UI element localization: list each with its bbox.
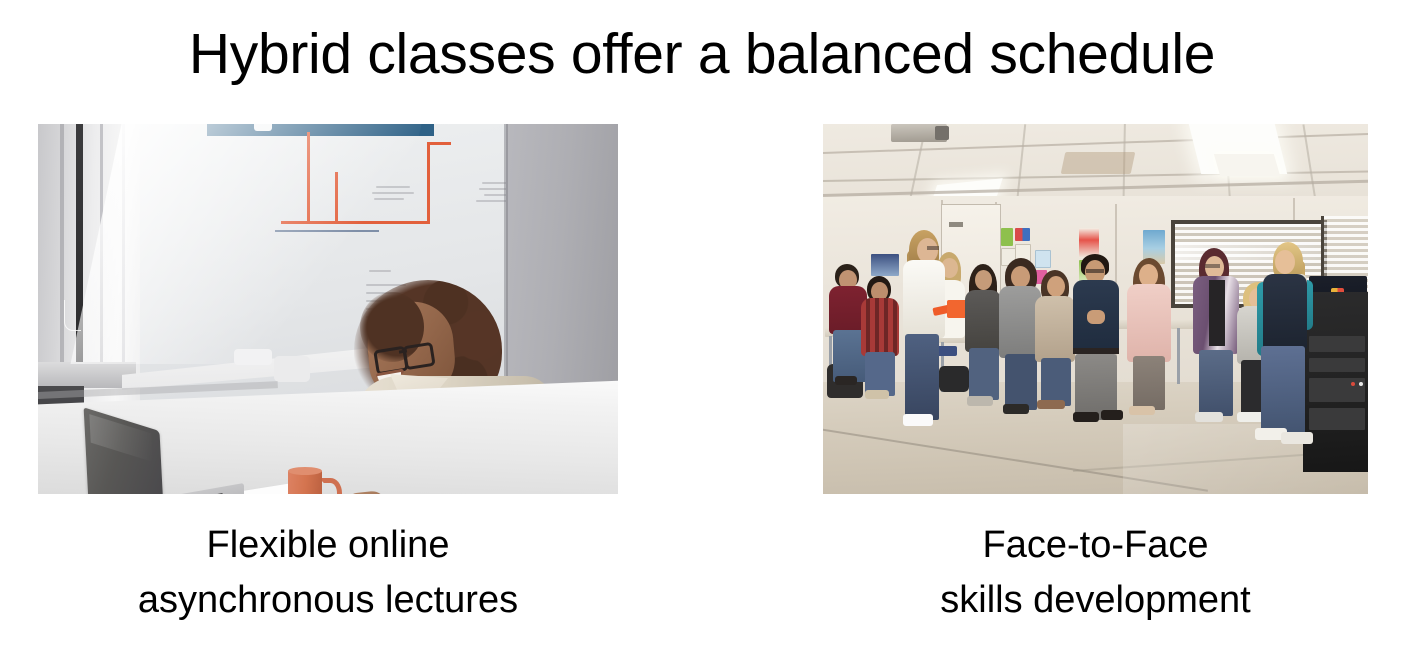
- door-sign: [949, 222, 963, 227]
- student-head: [1047, 276, 1065, 297]
- rack-unit: [1309, 408, 1365, 430]
- classroom-photo: [823, 124, 1368, 494]
- desk-leg: [1177, 328, 1180, 384]
- wall-poster: [1035, 250, 1051, 268]
- student-legs: [905, 334, 939, 420]
- student-vest: [1263, 274, 1307, 350]
- online-learning-photo: [38, 124, 618, 494]
- student-torso: [1035, 296, 1075, 362]
- background-object: [274, 356, 310, 382]
- student-shoe: [1101, 410, 1123, 420]
- glasses-icon: [1086, 269, 1104, 273]
- rack-unit: [1309, 358, 1365, 372]
- backpack: [939, 366, 969, 392]
- mug-rim: [288, 467, 322, 475]
- student-torso: [965, 290, 1001, 352]
- student-shoe: [1129, 406, 1155, 415]
- wall-poster: [1015, 228, 1030, 241]
- student-inner-top: [1209, 280, 1225, 346]
- background-object: [234, 349, 272, 365]
- student-shoe: [903, 414, 933, 426]
- student-hands: [1087, 310, 1105, 324]
- online-photo-scene: [38, 124, 618, 494]
- student-legs: [1261, 346, 1305, 438]
- orange-graphic-line: [427, 142, 451, 145]
- projector-lens: [935, 126, 949, 140]
- student-legs: [1041, 358, 1071, 406]
- student-torso: [861, 298, 899, 356]
- student-shoe: [835, 376, 857, 385]
- student-torso: [1127, 284, 1171, 362]
- fluorescent-light: [1214, 154, 1280, 176]
- wall-poster: [1001, 228, 1013, 246]
- orange-graphic-line: [427, 142, 430, 224]
- student-legs: [1133, 356, 1165, 410]
- student-shoe: [1195, 412, 1223, 422]
- classroom-photo-scene: [823, 124, 1368, 494]
- rack-unit: [1309, 336, 1365, 352]
- student-torso: [903, 260, 945, 338]
- student-legs: [1005, 354, 1037, 410]
- caption-face-to-face: Face-to-Face skills development: [823, 518, 1368, 628]
- glasses-icon: [927, 246, 939, 250]
- student-shoe: [1073, 412, 1099, 422]
- student-legs: [969, 348, 999, 400]
- rack-unit: [1309, 378, 1365, 402]
- glasses-icon: [402, 342, 435, 370]
- student-legs: [1199, 350, 1233, 416]
- student-head: [975, 270, 992, 290]
- student-head: [1275, 250, 1295, 274]
- student-shoe: [1003, 404, 1029, 414]
- status-led: [1359, 382, 1363, 386]
- window-sill: [38, 362, 136, 388]
- wall-poster: [871, 254, 899, 276]
- caption-online-learning: Flexible online asynchronous lectures: [38, 518, 618, 628]
- student-shoe: [967, 396, 993, 406]
- glasses-icon: [1205, 264, 1220, 268]
- status-led: [1351, 382, 1355, 386]
- student-shoe: [1037, 400, 1065, 409]
- student-head: [1011, 266, 1030, 288]
- student-shoe: [865, 390, 889, 399]
- slide-title: Hybrid classes offer a balanced schedule: [0, 24, 1404, 84]
- ceiling-stain: [1061, 152, 1136, 174]
- student-shoe: [1281, 432, 1313, 444]
